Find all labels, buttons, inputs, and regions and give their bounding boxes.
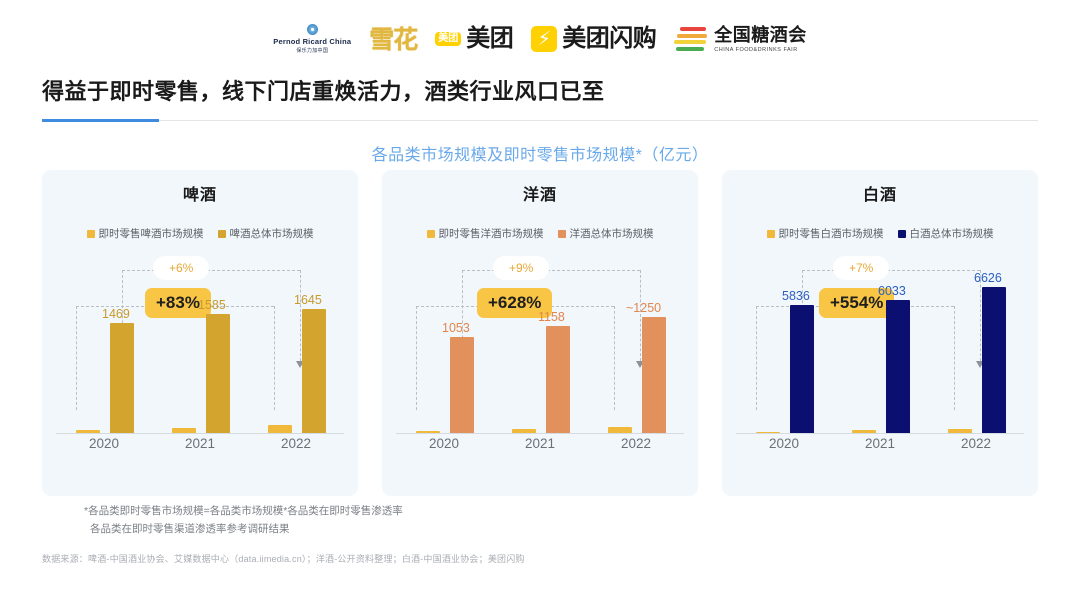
footnote-line-1: *各品类即时零售市场规模=各品类市场规模*各品类在即时零售渗透率	[84, 503, 403, 521]
panel-title-baijiu: 白酒	[722, 181, 1038, 205]
x-tick-2022-spirits: 2022	[588, 436, 684, 458]
legend-item-instant-baijiu[interactable]: 即时零售白酒市场规模	[767, 226, 884, 241]
bar-label-total-2022-baijiu: 6626	[974, 271, 1002, 285]
legend-item-instant-spirits[interactable]: 即时零售洋酒市场规模	[427, 226, 544, 241]
bar-total-2021-spirits[interactable]	[546, 326, 570, 433]
bar-groups-spirits: 1053 1158 ~1250	[396, 250, 684, 433]
logo-meituan-shangou: ⚡ 美团闪购	[531, 26, 656, 52]
logo-shangou-text: 美团闪购	[562, 27, 656, 51]
partner-logo-bar: Pernod Ricard China 保乐力加中国 雪花 美团 美团 ⚡ 美团…	[0, 18, 1080, 60]
x-axis-beer	[56, 433, 344, 434]
bar-groups-beer: 1469 1585 1645	[56, 250, 344, 433]
legend-swatch-total-spirits	[558, 230, 566, 238]
logo-fair-cn: 全国糖酒会	[714, 26, 807, 44]
bar-total-2022-baijiu[interactable]	[982, 287, 1006, 433]
divider-blue-accent	[42, 119, 159, 122]
bar-group-2021-beer: 1585	[152, 250, 248, 433]
chart-subtitle: 各品类市场规模及即时零售市场规模*（亿元）	[0, 141, 1080, 165]
legend-label-instant-spirits: 即时零售洋酒市场规模	[439, 226, 544, 241]
chart-panel-group: 啤酒 即时零售啤酒市场规模 啤酒总体市场规模 +6%	[42, 170, 1038, 496]
bar-label-total-2022-spirits: ~1250	[626, 301, 661, 315]
footnote-line-2: 各品类在即时零售渠道渗透率参考调研结果	[84, 521, 403, 539]
logo-fair-en: CHINA FOOD&DRINKS FAIR	[714, 47, 807, 53]
bar-label-total-2021-spirits: 1158	[538, 310, 565, 324]
lightning-bolt-icon: ⚡	[531, 26, 557, 52]
legend-label-total-spirits: 洋酒总体市场规模	[570, 226, 654, 241]
logo-pernod-ricard-china: Pernod Ricard China 保乐力加中国	[273, 24, 351, 54]
logo-meituan-text: 美团	[466, 27, 513, 51]
pernod-ricard-emblem-icon	[307, 24, 318, 35]
x-tick-2020-baijiu: 2020	[736, 436, 832, 458]
legend-label-total-baijiu: 白酒总体市场规模	[910, 226, 994, 241]
legend-item-total-baijiu[interactable]: 白酒总体市场规模	[898, 226, 994, 241]
chart-panel-beer: 啤酒 即时零售啤酒市场规模 啤酒总体市场规模 +6%	[42, 170, 358, 496]
bar-label-total-2020-spirits: 1053	[442, 321, 470, 335]
x-tick-2020-spirits: 2020	[396, 436, 492, 458]
x-tick-2022-beer: 2022	[248, 436, 344, 458]
legend-beer: 即时零售啤酒市场规模 啤酒总体市场规模	[42, 226, 358, 241]
legend-label-instant-baijiu: 即时零售白酒市场规模	[779, 226, 884, 241]
plot-area-baijiu: +7% +554% 5836 6033 6626	[736, 250, 1024, 460]
logo-snow-text: 雪花	[369, 27, 417, 52]
title-divider	[42, 119, 1038, 122]
bar-group-2022-spirits: ~1250	[588, 250, 684, 433]
meituan-badge-icon: 美团	[435, 32, 461, 46]
bar-label-total-2021-baijiu: 6033	[878, 284, 906, 298]
footnotes: *各品类即时零售市场规模=各品类市场规模*各品类在即时零售渗透率 各品类在即时零…	[84, 503, 403, 539]
bar-group-2021-baijiu: 6033	[832, 250, 928, 433]
x-tick-2022-baijiu: 2022	[928, 436, 1024, 458]
logo-pernod-en: Pernod Ricard China	[273, 37, 351, 46]
legend-spirits: 即时零售洋酒市场规模 洋酒总体市场规模	[382, 226, 698, 241]
legend-label-instant-beer: 即时零售啤酒市场规模	[99, 226, 204, 241]
page-title: 得益于即时零售，线下门店重焕活力，酒类行业风口已至	[42, 74, 605, 106]
bar-total-2020-beer[interactable]	[110, 323, 134, 433]
legend-item-total-spirits[interactable]: 洋酒总体市场规模	[558, 226, 654, 241]
divider-gray-line	[42, 120, 1038, 121]
bar-instant-2022-beer[interactable]	[268, 425, 292, 433]
bar-label-total-2022-beer: 1645	[294, 293, 322, 307]
legend-swatch-instant-beer	[87, 230, 95, 238]
x-tick-2021-beer: 2021	[152, 436, 248, 458]
logo-pernod-cn: 保乐力加中国	[296, 47, 328, 54]
bar-total-2022-spirits[interactable]	[642, 317, 666, 433]
plot-area-beer: +6% +83% 1469 1585 1645	[56, 250, 344, 460]
x-axis-spirits	[396, 433, 684, 434]
bar-group-2021-spirits: 1158	[492, 250, 588, 433]
legend-swatch-instant-spirits	[427, 230, 435, 238]
x-tick-2020-beer: 2020	[56, 436, 152, 458]
bar-label-total-2021-beer: 1585	[198, 298, 226, 312]
logo-meituan: 美团 美团	[435, 27, 513, 51]
logo-china-food-drinks-fair: 全国糖酒会 CHINA FOOD&DRINKS FAIR	[674, 26, 807, 53]
panel-title-beer: 啤酒	[42, 181, 358, 205]
bar-group-2020-beer: 1469	[56, 250, 152, 433]
legend-swatch-instant-baijiu	[767, 230, 775, 238]
legend-swatch-total-baijiu	[898, 230, 906, 238]
x-tick-labels-spirits: 2020 2021 2022	[396, 436, 684, 458]
bar-label-total-2020-baijiu: 5836	[782, 289, 810, 303]
bar-group-2022-beer: 1645	[248, 250, 344, 433]
bar-group-2020-spirits: 1053	[396, 250, 492, 433]
bar-groups-baijiu: 5836 6033 6626	[736, 250, 1024, 433]
legend-label-total-beer: 啤酒总体市场规模	[230, 226, 314, 241]
bar-total-2020-spirits[interactable]	[450, 337, 474, 433]
bolt-glyph: ⚡	[538, 30, 551, 49]
x-tick-labels-beer: 2020 2021 2022	[56, 436, 344, 458]
chart-panel-baijiu: 白酒 即时零售白酒市场规模 白酒总体市场规模 +7% +554%	[722, 170, 1038, 496]
fair-stripes-icon	[674, 26, 708, 52]
bar-total-2020-baijiu[interactable]	[790, 305, 814, 433]
x-axis-baijiu	[736, 433, 1024, 434]
chart-panel-spirits: 洋酒 即时零售洋酒市场规模 洋酒总体市场规模 +9% +628%	[382, 170, 698, 496]
bar-total-2021-baijiu[interactable]	[886, 300, 910, 433]
plot-area-spirits: +9% +628% 1053 1158 ~1250	[396, 250, 684, 460]
bar-total-2022-beer[interactable]	[302, 309, 326, 433]
bar-group-2020-baijiu: 5836	[736, 250, 832, 433]
panel-title-spirits: 洋酒	[382, 181, 698, 205]
legend-baijiu: 即时零售白酒市场规模 白酒总体市场规模	[722, 226, 1038, 241]
data-source-note: 数据来源：啤酒-中国酒业协会、艾媒数据中心（data.iimedia.cn）；洋…	[42, 552, 525, 565]
x-tick-2021-spirits: 2021	[492, 436, 588, 458]
bar-group-2022-baijiu: 6626	[928, 250, 1024, 433]
legend-swatch-total-beer	[218, 230, 226, 238]
bar-label-total-2020-beer: 1469	[102, 307, 130, 321]
legend-item-total-beer[interactable]: 啤酒总体市场规模	[218, 226, 314, 241]
x-tick-labels-baijiu: 2020 2021 2022	[736, 436, 1024, 458]
bar-total-2021-beer[interactable]	[206, 314, 230, 433]
logo-snow-beer: 雪花	[369, 27, 417, 52]
x-tick-2021-baijiu: 2021	[832, 436, 928, 458]
legend-item-instant-beer[interactable]: 即时零售啤酒市场规模	[87, 226, 204, 241]
